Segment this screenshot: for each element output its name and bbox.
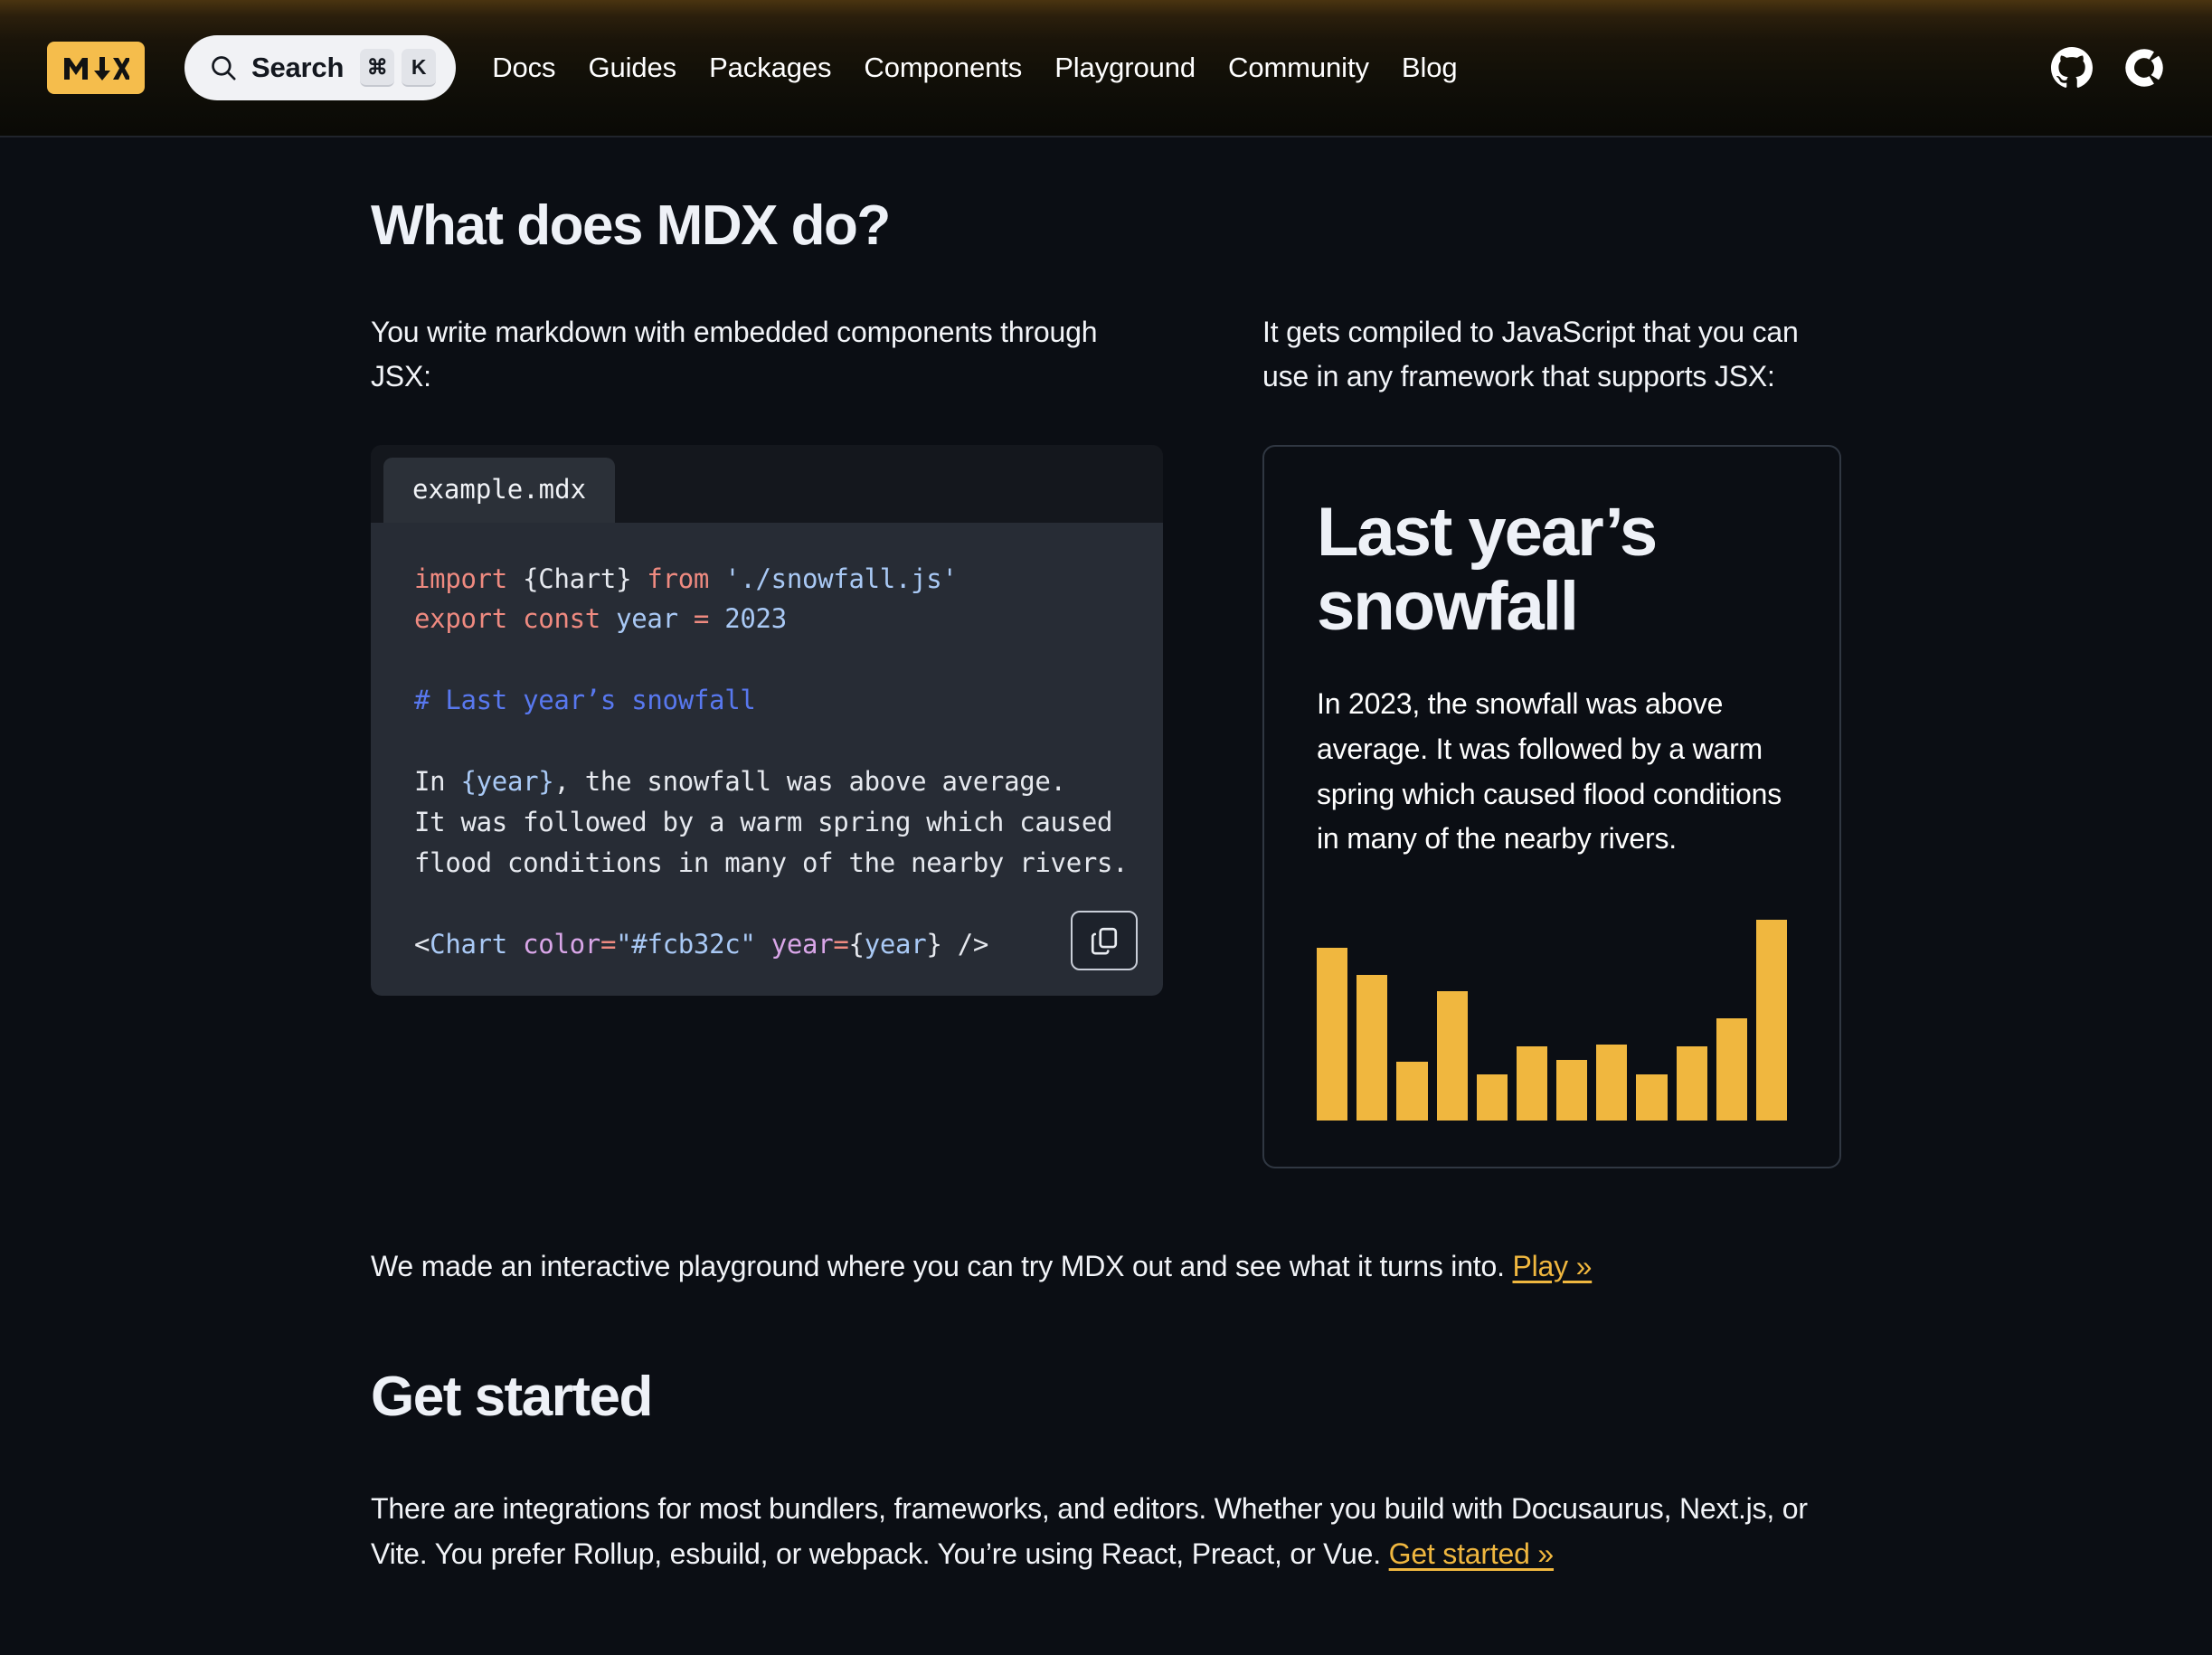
chart-bar	[1677, 1046, 1707, 1121]
token-body-line3: flood conditions in many of the nearby r…	[414, 847, 1128, 878]
search-button[interactable]: Search ⌘ K	[184, 35, 456, 100]
token-brace-open: {	[849, 929, 865, 960]
play-link[interactable]: Play »	[1512, 1250, 1592, 1282]
mdx-logo-icon	[62, 54, 129, 81]
primary-nav-links: Docs Guides Packages Components Playgrou…	[492, 52, 2051, 84]
integrations-paragraph: There are integrations for most bundlers…	[371, 1487, 1841, 1576]
token-import-path: './snowfall.js'	[709, 563, 958, 594]
opencollective-icon[interactable]	[2123, 47, 2165, 89]
chart-bar	[1437, 991, 1468, 1121]
right-lead-paragraph: It gets compiled to JavaScript that you …	[1262, 310, 1841, 400]
token-body-a: In	[414, 766, 460, 797]
integrations-paragraph-text: There are integrations for most bundlers…	[371, 1492, 1808, 1570]
chart-bar	[1517, 1046, 1547, 1121]
search-shortcut: ⌘ K	[360, 49, 436, 87]
nav-link-components[interactable]: Components	[864, 52, 1022, 84]
token-year-expr: {year}	[460, 766, 553, 797]
token-body-line2: It was followed by a warm spring which c…	[414, 807, 1112, 837]
page-title-get-started: Get started	[371, 1365, 1841, 1429]
token-body-b: , the snowfall was above average.	[553, 766, 1065, 797]
chart-bar	[1556, 1060, 1587, 1121]
nav-link-guides[interactable]: Guides	[588, 52, 676, 84]
token-attr-eq-2: =	[833, 929, 848, 960]
search-label: Search	[251, 52, 344, 84]
nav-social-icons	[2051, 47, 2165, 89]
chart-bar	[1756, 920, 1787, 1121]
two-column-section: You write markdown with embedded compone…	[371, 310, 1841, 1168]
token-from: from	[647, 563, 709, 594]
top-navigation-bar: Search ⌘ K Docs Guides Packages Componen…	[0, 0, 2212, 137]
github-icon[interactable]	[2051, 47, 2093, 89]
token-md-heading: # Last year’s snowfall	[414, 685, 756, 715]
token-lt: <	[414, 929, 430, 960]
preview-body-text: In 2023, the snowfall was above average.…	[1317, 682, 1787, 863]
code-block: example.mdx import {Chart} from './snowf…	[371, 445, 1163, 996]
kbd-k: K	[402, 49, 436, 87]
code-tab-example-mdx[interactable]: example.mdx	[383, 458, 615, 523]
mdx-logo[interactable]	[47, 42, 145, 94]
token-attr-eq-1: =	[600, 929, 616, 960]
main-content: What does MDX do? You write markdown wit…	[0, 194, 2212, 1655]
chart-bar	[1477, 1074, 1508, 1121]
token-self-close: />	[942, 929, 988, 960]
chart-bar	[1716, 1018, 1747, 1121]
left-column: You write markdown with embedded compone…	[371, 310, 1163, 1168]
chart-bar	[1317, 948, 1347, 1121]
nav-link-playground[interactable]: Playground	[1054, 52, 1196, 84]
token-attr-year: year	[756, 929, 834, 960]
nav-link-community[interactable]: Community	[1228, 52, 1369, 84]
search-icon	[208, 52, 239, 83]
right-column: It gets compiled to JavaScript that you …	[1262, 310, 1841, 1168]
token-year-ident: year	[600, 603, 678, 634]
copy-code-button[interactable]	[1071, 911, 1138, 970]
preview-title: Last year’s snowfall	[1317, 496, 1787, 644]
code-content[interactable]: import {Chart} from './snowfall.js' expo…	[414, 559, 1120, 965]
code-body: import {Chart} from './snowfall.js' expo…	[371, 523, 1163, 996]
code-tab-bar: example.mdx	[371, 445, 1163, 523]
kbd-command: ⌘	[360, 49, 394, 87]
nav-link-docs[interactable]: Docs	[492, 52, 555, 84]
token-brace-close: }	[926, 929, 941, 960]
token-year-value: 2023	[724, 603, 787, 634]
chart-bar	[1596, 1045, 1627, 1121]
left-lead-paragraph: You write markdown with embedded compone…	[371, 310, 1163, 400]
get-started-link[interactable]: Get started »	[1389, 1537, 1554, 1570]
chart-bar	[1396, 1062, 1427, 1121]
token-export: export	[414, 603, 507, 634]
content-wrapper: What does MDX do? You write markdown wit…	[152, 194, 2060, 1576]
snowfall-bar-chart	[1317, 913, 1787, 1121]
chart-bar	[1357, 975, 1387, 1121]
copy-icon	[1089, 925, 1120, 956]
playground-paragraph: We made an interactive playground where …	[371, 1244, 1841, 1290]
token-chart-tag: Chart	[430, 929, 507, 960]
token-year-ref: year	[865, 929, 927, 960]
page-title-what-does-mdx-do: What does MDX do?	[371, 194, 1841, 258]
token-chart-binding: {Chart}	[507, 563, 647, 594]
nav-link-blog[interactable]: Blog	[1402, 52, 1458, 84]
token-import: import	[414, 563, 507, 594]
token-attr-color: color	[507, 929, 600, 960]
chart-bar	[1636, 1074, 1667, 1121]
nav-link-packages[interactable]: Packages	[709, 52, 831, 84]
token-color-value: "#fcb32c"	[616, 929, 755, 960]
playground-paragraph-text: We made an interactive playground where …	[371, 1250, 1512, 1282]
token-equals: =	[678, 603, 724, 634]
token-const: const	[507, 603, 600, 634]
preview-card: Last year’s snowfall In 2023, the snowfa…	[1262, 445, 1841, 1168]
